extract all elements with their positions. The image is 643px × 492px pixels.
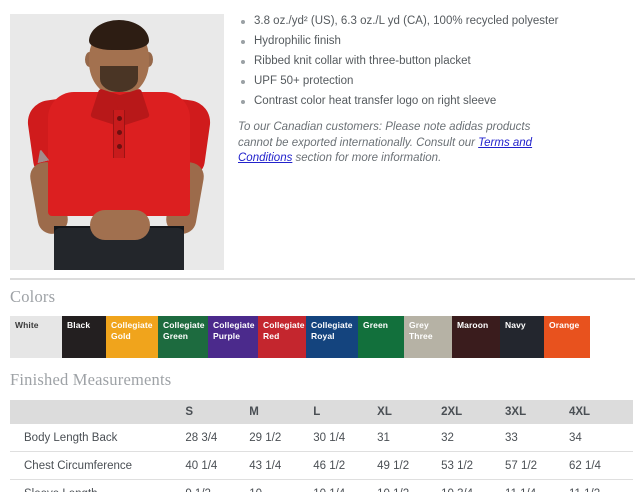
- measurement-cell: 10 1/4: [313, 480, 377, 492]
- measurement-cell: 30 1/4: [313, 424, 377, 452]
- table-col-header-size: 3XL: [505, 400, 569, 424]
- table-col-header-size: S: [185, 400, 249, 424]
- color-swatch[interactable]: Grey Three: [404, 316, 452, 358]
- measurement-cell: 31: [377, 424, 441, 452]
- table-row: Chest Circumference40 1/443 1/446 1/249 …: [10, 452, 633, 480]
- measurement-cell: 28 3/4: [185, 424, 249, 452]
- color-swatch-label: Collegiate Purple: [213, 320, 256, 341]
- spec-item: UPF 50+ protection: [238, 74, 635, 89]
- shirt-button-3: [117, 144, 122, 149]
- measurement-cell: 49 1/2: [377, 452, 441, 480]
- color-swatch[interactable]: Maroon: [452, 316, 500, 358]
- color-swatch-label: Collegiate Red: [263, 320, 304, 341]
- spec-list: 3.8 oz./yd² (US), 6.3 oz./L yd (CA), 100…: [238, 14, 635, 109]
- color-swatch-label: Maroon: [457, 320, 498, 331]
- color-swatch-label: Collegiate Royal: [311, 320, 356, 341]
- color-swatch[interactable]: Green: [358, 316, 404, 358]
- measurement-row-label: Body Length Back: [10, 424, 185, 452]
- color-swatch[interactable]: Collegiate Royal: [306, 316, 358, 358]
- spec-item: 3.8 oz./yd² (US), 6.3 oz./L yd (CA), 100…: [238, 14, 635, 29]
- table-col-header-blank: [10, 400, 185, 424]
- product-specs: 3.8 oz./yd² (US), 6.3 oz./L yd (CA), 100…: [224, 8, 643, 270]
- color-swatch[interactable]: White: [10, 316, 62, 358]
- product-overview-section: 3.8 oz./yd² (US), 6.3 oz./L yd (CA), 100…: [0, 0, 643, 270]
- table-col-header-size: 2XL: [441, 400, 505, 424]
- measurement-row-label: Sleeve Length: [10, 480, 185, 492]
- product-photo[interactable]: [10, 14, 224, 270]
- color-swatch-label: Green: [363, 320, 402, 331]
- color-swatch[interactable]: Navy: [500, 316, 544, 358]
- color-swatch[interactable]: Orange: [544, 316, 590, 358]
- spec-item: Ribbed knit collar with three-button pla…: [238, 54, 635, 69]
- measurement-cell: 32: [441, 424, 505, 452]
- product-detail-page: 3.8 oz./yd² (US), 6.3 oz./L yd (CA), 100…: [0, 0, 643, 492]
- color-swatch[interactable]: Collegiate Green: [158, 316, 208, 358]
- table-col-header-size: 4XL: [569, 400, 633, 424]
- spec-item: Hydrophilic finish: [238, 34, 635, 49]
- shirt-button-2: [117, 130, 122, 135]
- measurement-cell: 10 3/4: [441, 480, 505, 492]
- measurement-cell: 11 1/2: [569, 480, 633, 492]
- measurements-heading: Finished Measurements: [10, 370, 643, 390]
- color-swatch-label: Orange: [549, 320, 588, 331]
- color-swatch-label: Navy: [505, 320, 542, 331]
- measurement-cell: 11 1/4: [505, 480, 569, 492]
- color-swatch[interactable]: Collegiate Purple: [208, 316, 258, 358]
- measurements-table-wrap: SMLXL2XL3XL4XL Body Length Back28 3/429 …: [10, 400, 633, 492]
- color-swatch[interactable]: Black: [62, 316, 106, 358]
- table-head: SMLXL2XL3XL4XL: [10, 400, 633, 424]
- measurement-cell: 57 1/2: [505, 452, 569, 480]
- measurement-cell: 33: [505, 424, 569, 452]
- measurement-row-label: Chest Circumference: [10, 452, 185, 480]
- color-swatch-label: Collegiate Gold: [111, 320, 156, 341]
- colors-heading: Colors: [10, 287, 643, 307]
- table-col-header-size: M: [249, 400, 313, 424]
- table-body: Body Length Back28 3/429 1/230 1/4313233…: [10, 424, 633, 492]
- shirt-button-1: [117, 116, 122, 121]
- color-swatch-label: Black: [67, 320, 104, 331]
- table-col-header-size: XL: [377, 400, 441, 424]
- color-swatch[interactable]: Collegiate Red: [258, 316, 306, 358]
- measurement-cell: 40 1/4: [185, 452, 249, 480]
- table-row: Sleeve Length9 1/21010 1/410 1/210 3/411…: [10, 480, 633, 492]
- table-col-header-size: L: [313, 400, 377, 424]
- color-swatch[interactable]: Collegiate Gold: [106, 316, 158, 358]
- measurement-cell: 9 1/2: [185, 480, 249, 492]
- note-text-after-link: section for more information.: [292, 152, 441, 164]
- model-hands: [90, 210, 150, 240]
- measurement-cell: 34: [569, 424, 633, 452]
- color-swatch-label: White: [15, 320, 60, 331]
- measurement-cell: 46 1/2: [313, 452, 377, 480]
- measurement-cell: 53 1/2: [441, 452, 505, 480]
- measurement-cell: 43 1/4: [249, 452, 313, 480]
- measurement-cell: 10: [249, 480, 313, 492]
- color-swatch-label: Collegiate Green: [163, 320, 206, 341]
- spec-item: Contrast color heat transfer logo on rig…: [238, 94, 635, 109]
- model-beard: [100, 66, 138, 92]
- measurement-cell: 29 1/2: [249, 424, 313, 452]
- section-divider: [10, 278, 635, 280]
- table-header-row: SMLXL2XL3XL4XL: [10, 400, 633, 424]
- color-swatch-label: Grey Three: [409, 320, 450, 341]
- measurement-cell: 62 1/4: [569, 452, 633, 480]
- canadian-customers-note: To our Canadian customers: Please note a…: [238, 120, 568, 167]
- measurement-cell: 10 1/2: [377, 480, 441, 492]
- table-row: Body Length Back28 3/429 1/230 1/4313233…: [10, 424, 633, 452]
- finished-measurements-table: SMLXL2XL3XL4XL Body Length Back28 3/429 …: [10, 400, 633, 492]
- color-swatch-row: WhiteBlackCollegiate GoldCollegiate Gree…: [10, 316, 540, 358]
